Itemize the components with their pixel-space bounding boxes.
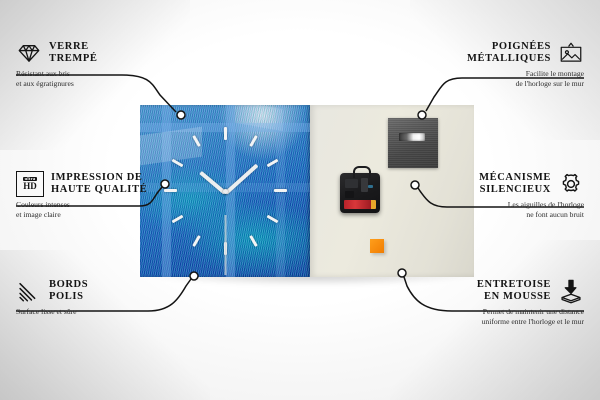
hanger-slot [399,133,425,141]
callout-title-line2: MÉTALLIQUES [467,53,551,66]
foam-spacer-icon [558,278,584,304]
callout-title-line1: VERRE [49,41,98,54]
ultra-hd-icon-bottom: HD [23,182,37,191]
clock-center-hub [223,189,228,194]
callout-subtitle-line1: Surface lisse et sûre [16,307,196,317]
callout-verre-trempe: VERRE TREMPÉ Résistant aux bris et aux é… [16,40,196,89]
callout-bords-polis: BORDS POLIS Surface lisse et sûre [16,278,196,317]
gear-icon [558,171,584,197]
clock-tick [274,189,287,192]
callout-header: ENTRETOISE EN MOUSSE [344,278,584,304]
callout-subtitle-line1: Facilite le montage [374,69,584,79]
callout-subtitle-line1: Résistant aux bris [16,69,196,79]
callout-header: VERRE TREMPÉ [16,40,196,66]
callout-subtitle-line2: ne font aucun bruit [364,210,584,220]
callout-subtitle-line1: Permet de maintenir une distance [344,307,584,317]
metal-hanger-plate [388,118,438,168]
diamond-icon [16,40,42,66]
callout-subtitle-line2: et image claire [16,210,216,220]
callout-header: ultra HD IMPRESSION DE HAUTE QUALITÉ [16,171,216,197]
clock-tick [249,235,258,247]
callout-entretoise-en-mousse: ENTRETOISE EN MOUSSE Permet de maintenir… [344,278,584,327]
callout-title-line2: POLIS [49,291,88,304]
callout-header: POIGNÉES MÉTALLIQUES [374,40,584,66]
callout-subtitle-line2: de l'horloge sur le mur [374,79,584,89]
callout-title-line1: BORDS [49,279,88,292]
callout-impression-haute-qualite: ultra HD IMPRESSION DE HAUTE QUALITÉ Cou… [16,171,216,220]
clock-tick [224,127,227,140]
polished-edges-icon [16,278,42,304]
callout-title-line1: POIGNÉES [467,41,551,54]
clock-hand-second [225,215,227,275]
callout-mecanisme-silencieux: MÉCANISME SILENCIEUX Les aiguilles de l'… [364,171,584,220]
callout-title-line2: HAUTE QUALITÉ [51,184,147,197]
callout-subtitle-line1: Couleurs intenses [16,200,216,210]
callout-header: BORDS POLIS [16,278,196,304]
callout-title-line2: EN MOUSSE [477,291,551,304]
callout-title-line1: ENTRETOISE [477,279,551,292]
callout-subtitle-line1: Les aiguilles de l'horloge [364,200,584,210]
clock-tick [249,135,258,147]
callout-title-line1: IMPRESSION DE [51,172,147,185]
callout-subtitle-line2: et aux égratignures [16,79,196,89]
ultra-hd-icon: ultra HD [16,171,44,197]
callout-title-line1: MÉCANISME [479,172,551,185]
callout-poignees-metalliques: POIGNÉES MÉTALLIQUES Facilite le montage… [374,40,584,89]
callout-title-line2: SILENCIEUX [479,184,551,197]
callout-subtitle-line2: uniforme entre l'horloge et le mur [344,317,584,327]
product-feature-infographic: VERRE TREMPÉ Résistant aux bris et aux é… [0,0,600,400]
clock-tick [192,235,201,247]
callout-header: MÉCANISME SILENCIEUX [364,171,584,197]
foam-spacer [370,239,384,253]
callout-title-line2: TREMPÉ [49,53,98,66]
picture-hanger-icon [558,40,584,66]
